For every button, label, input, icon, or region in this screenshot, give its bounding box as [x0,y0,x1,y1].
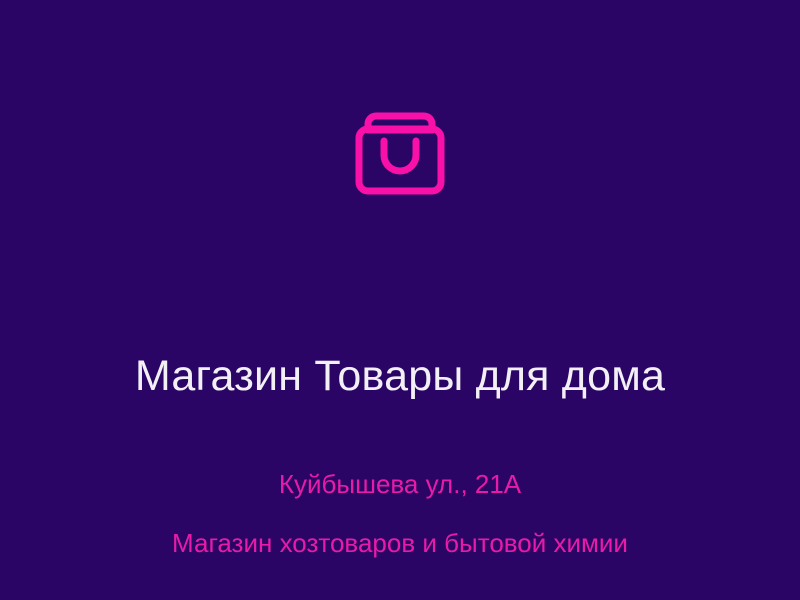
store-card-screen: Магазин Товары для дома Куйбышева ул., 2… [0,0,800,600]
store-info-block: Магазин Товары для дома Куйбышева ул., 2… [0,352,800,559]
store-address: Куйбышева ул., 21А [40,468,760,501]
page-title: Магазин Товары для дома [40,352,760,400]
shopping-bag-glyph [348,96,452,200]
store-description: Магазин хозтоваров и бытовой химии [30,527,770,560]
bag-body [359,129,441,191]
shopping-bag-icon [348,96,452,200]
bag-handle [384,141,416,171]
